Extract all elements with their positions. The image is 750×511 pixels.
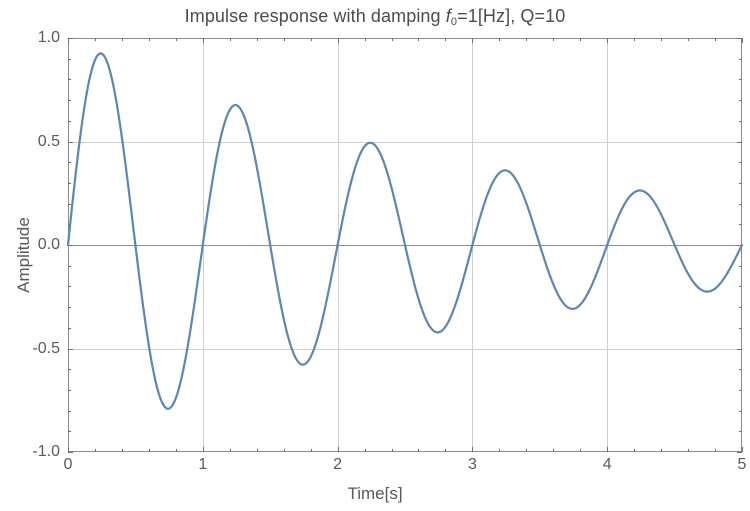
x-tick-label: 4 [603, 456, 612, 474]
chart-title-subscript: 0 [451, 16, 457, 28]
chart-root: Impulse response with damping f0=1[Hz], … [0, 0, 750, 511]
x-axis-title: Time[s] [0, 484, 750, 504]
y-axis-title: Amplitude [14, 145, 34, 365]
chart-title: Impulse response with damping f0=1[Hz], … [0, 6, 750, 27]
x-axis-tick-major [742, 38, 743, 43]
x-tick-label: 2 [333, 456, 342, 474]
y-tick-label: 0.5 [38, 133, 60, 151]
x-tick-label: 3 [468, 456, 477, 474]
x-tick-label: 5 [738, 456, 747, 474]
y-tick-label: 0.0 [38, 236, 60, 254]
chart-title-post: =1[Hz], Q=10 [457, 6, 565, 26]
y-axis-tick-major [68, 452, 73, 453]
plot-area [68, 38, 742, 452]
y-tick-label: 1.0 [38, 29, 60, 47]
series-impulse-response-path [68, 53, 742, 408]
y-tick-label: -1.0 [32, 443, 60, 461]
x-axis-tick-major [742, 447, 743, 452]
x-tick-label: 1 [198, 456, 207, 474]
data-curve [68, 38, 742, 452]
chart-title-pre: Impulse response with damping [185, 6, 446, 26]
y-tick-label: -0.5 [32, 340, 60, 358]
y-axis-tick-major [737, 452, 742, 453]
x-tick-label: 0 [64, 456, 73, 474]
